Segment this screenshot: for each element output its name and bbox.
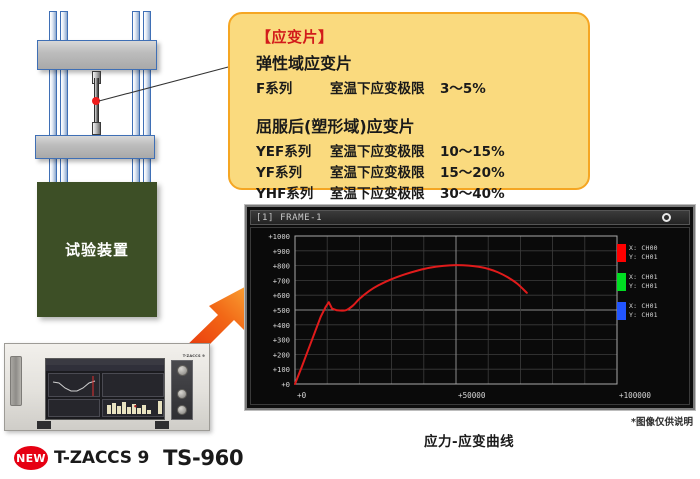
instrument-knob-top[interactable] <box>177 365 188 376</box>
spec-series: YF系列 <box>256 161 330 181</box>
legend-entry[interactable]: X: CH01Y: CH01 <box>617 273 685 291</box>
spec-row: F系列 室温下应变极限 3〜5% <box>256 77 574 97</box>
display-bargraph-panel <box>102 399 164 417</box>
chart-window-title: [1] FRAME-1 <box>251 213 322 223</box>
instrument-foot-right <box>155 421 169 429</box>
record-ring-icon <box>662 213 671 222</box>
spec-condition: 室温下应变极限 <box>330 161 440 181</box>
y-axis-tick-label: +1000 <box>268 232 290 241</box>
instrument-photo: T-ZACCS 9 <box>4 337 210 440</box>
spec-value: 10〜15% <box>440 140 505 160</box>
legend-y-channel: Y: CH01 <box>629 311 658 320</box>
legend-labels: X: CH01Y: CH01 <box>629 302 658 320</box>
spec-series: F系列 <box>256 77 330 97</box>
legend-x-channel: X: CH01 <box>629 302 658 311</box>
display-waveform <box>49 374 101 398</box>
legend-color-swatch <box>617 273 626 291</box>
test-machine-base-label: 试验装置 <box>37 182 157 317</box>
product-label: NEW T-ZACCS 9 TS-960 <box>14 446 243 470</box>
test-machine-base: 试验装置 <box>37 182 157 317</box>
legend-color-swatch <box>617 302 626 320</box>
spec-series: YEF系列 <box>256 140 330 160</box>
product-name: T-ZACCS 9 <box>54 448 149 468</box>
display-channel-panel <box>102 373 164 397</box>
spec-series: YHF系列 <box>256 182 330 202</box>
y-axis-tick-label: +500 <box>273 306 290 315</box>
instrument-knob-bottom[interactable] <box>177 405 187 415</box>
spec-row: YEF系列 室温下应变极限 10〜15% <box>256 140 574 160</box>
y-axis-tick-label: +800 <box>273 262 290 271</box>
instrument-foot-left <box>37 421 51 429</box>
instrument-knob-mid[interactable] <box>177 389 187 399</box>
chart-legend: X: CH00Y: CH01X: CH01Y: CH01X: CH01Y: CH… <box>617 244 685 331</box>
spec-condition: 室温下应变极限 <box>330 140 440 160</box>
callout-group-elastic-heading: 弹性域应变片 <box>256 50 574 74</box>
instrument-brand-text: T-ZACCS 9 <box>183 354 205 358</box>
display-table-panel <box>48 399 100 417</box>
legend-labels: X: CH00Y: CH01 <box>629 244 658 262</box>
spec-value: 15〜20% <box>440 161 505 181</box>
chart-caption: 应力-应变曲线 <box>424 430 514 450</box>
chart-titlebar[interactable]: [1] FRAME-1 <box>250 210 690 225</box>
legend-x-channel: X: CH01 <box>629 273 658 282</box>
y-axis-tick-label: +700 <box>273 276 290 285</box>
y-axis-tick-label: +200 <box>273 350 290 359</box>
new-badge: NEW <box>14 446 48 470</box>
instrument-display: ● <box>45 358 165 420</box>
spec-row: YHF系列 室温下应变极限 30〜40% <box>256 182 574 202</box>
legend-x-channel: X: CH00 <box>629 244 658 253</box>
y-axis-tick-label: +400 <box>273 321 290 330</box>
display-logo: ● <box>134 404 137 408</box>
instrument-chassis: T-ZACCS 9 <box>4 343 210 431</box>
record-button[interactable] <box>659 211 674 224</box>
legend-y-channel: Y: CH01 <box>629 253 658 262</box>
chart-body: +0+100+200+300+400+500+600+700+800+900+1… <box>250 227 690 405</box>
display-toolbar <box>46 365 165 371</box>
y-axis-tick-label: +600 <box>273 291 290 300</box>
y-axis-tick-label: +100 <box>273 365 290 374</box>
y-axis-tick-label: +300 <box>273 336 290 345</box>
x-axis-tick-label: +0 <box>297 391 307 400</box>
spec-condition: 室温下应变极限 <box>330 182 440 202</box>
display-waveform-panel <box>48 373 100 397</box>
callout-group-elastic: 弹性域应变片 F系列 室温下应变极限 3〜5% <box>256 50 574 97</box>
instrument-handle <box>10 356 22 406</box>
callout-title: 【应变片】 <box>256 26 574 47</box>
legend-entry[interactable]: X: CH01Y: CH01 <box>617 302 685 320</box>
legend-color-swatch <box>617 244 626 262</box>
callout-group-plastic: 屈服后(塑形域)应变片 YEF系列 室温下应变极限 10〜15% YF系列 室温… <box>256 113 574 202</box>
callout-group-plastic-heading: 屈服后(塑形域)应变片 <box>256 113 574 137</box>
chart-window: [1] FRAME-1 +0+100+200+300+400+500+600+7… <box>245 205 695 410</box>
instrument-control-panel <box>171 360 193 420</box>
callout-spacer <box>256 98 574 111</box>
rig-crossbeam-bottom <box>35 135 155 159</box>
spec-row: YF系列 室温下应变极限 15〜20% <box>256 161 574 181</box>
strain-gauge-callout: 【应变片】 弹性域应变片 F系列 室温下应变极限 3〜5% 屈服后(塑形域)应变… <box>228 12 590 190</box>
legend-y-channel: Y: CH01 <box>629 282 658 291</box>
spec-value: 30〜40% <box>440 182 505 202</box>
x-axis-tick-label: +50000 <box>458 391 486 400</box>
spec-condition: 室温下应变极限 <box>330 77 440 97</box>
callout-leader-line <box>0 0 240 130</box>
disclaimer-note: *图像仅供说明 <box>631 414 693 428</box>
y-axis-tick-label: +0 <box>281 380 290 389</box>
legend-entry[interactable]: X: CH00Y: CH01 <box>617 244 685 262</box>
y-axis-tick-label: +900 <box>273 247 290 256</box>
x-axis-tick-label: +100000 <box>619 391 651 400</box>
legend-labels: X: CH01Y: CH01 <box>629 273 658 291</box>
spec-value: 3〜5% <box>440 77 486 97</box>
product-model: TS-960 <box>163 446 243 470</box>
